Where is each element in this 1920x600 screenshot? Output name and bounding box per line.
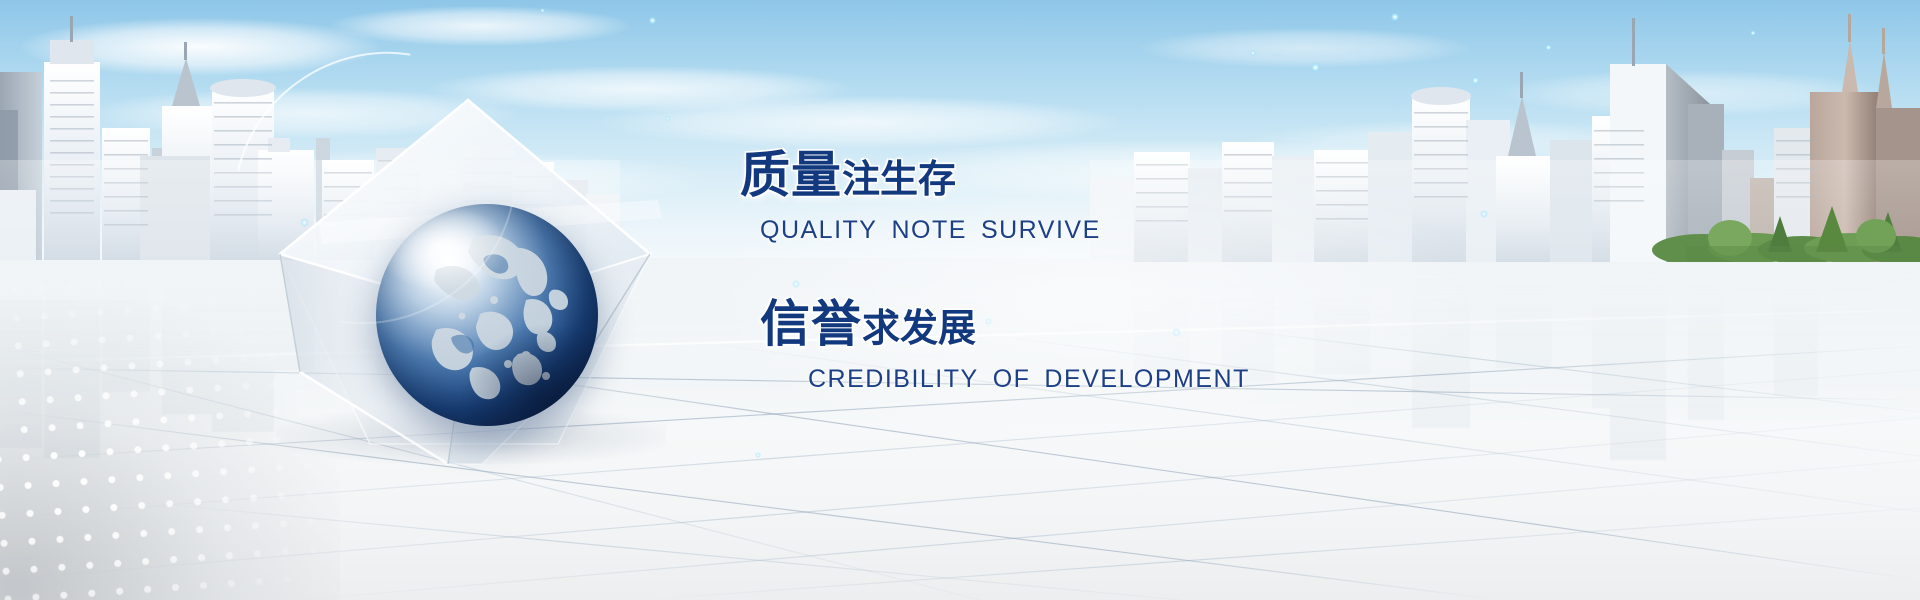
slogan-en-word: NOTE (891, 216, 966, 244)
slogan-cn-quality-rest: 注生存 (842, 157, 956, 201)
slogan-block-quality: 质量注生存 QUALITYNOTESURVIVE (740, 150, 1440, 245)
slogan-en-word: QUALITY (760, 216, 877, 244)
corporate-banner: 质量注生存 QUALITYNOTESURVIVE 信誉求发展 CREDIBILI… (0, 0, 1920, 600)
slogan-en-quality: QUALITYNOTESURVIVE (760, 216, 1440, 245)
slogan-en-word: SURVIVE (981, 216, 1101, 244)
globe-continents (376, 204, 598, 426)
slogan-en-credibility: CREDIBILITYOFDEVELOPMENT (808, 365, 1440, 394)
slogan-block-credibility: 信誉求发展 CREDIBILITYOFDEVELOPMENT (740, 299, 1440, 394)
slogan-cn-quality: 质量注生存 (740, 150, 1440, 200)
slogan-cn-credibility-rest: 求发展 (862, 306, 976, 350)
glass-hexagon-crystal (258, 72, 678, 472)
cloud (600, 96, 1120, 148)
slogan-en-word: DEVELOPMENT (1044, 365, 1249, 393)
slogan-group: 质量注生存 QUALITYNOTESURVIVE 信誉求发展 CREDIBILI… (740, 150, 1440, 394)
slogan-en-word: CREDIBILITY (808, 365, 979, 393)
slogan-cn-credibility-bold: 信誉 (760, 295, 862, 353)
slogan-en-word: OF (993, 365, 1031, 393)
slogan-cn-credibility: 信誉求发展 (760, 299, 1440, 349)
blue-earth-globe (376, 204, 598, 426)
slogan-cn-quality-bold: 质量 (740, 146, 842, 204)
